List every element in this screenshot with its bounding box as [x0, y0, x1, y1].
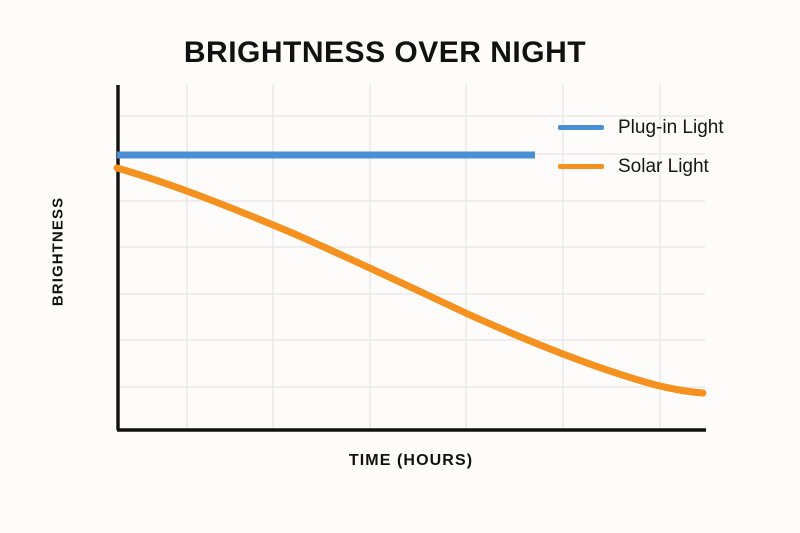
y-axis-label: BRIGHTNESS — [50, 172, 67, 332]
chart-legend: Plug-in Light Solar Light — [558, 113, 724, 191]
series-line-solar-light — [117, 168, 703, 393]
legend-label-solar-light: Solar Light — [618, 156, 709, 178]
legend-swatch-plug-in-light — [558, 125, 604, 130]
legend-item-plug-in-light: Plug-in Light — [558, 113, 724, 142]
legend-swatch-solar-light — [558, 164, 604, 169]
legend-item-solar-light: Solar Light — [558, 152, 724, 181]
x-axis-label: TIME (HOURS) — [117, 452, 705, 470]
legend-label-plug-in-light: Plug-in Light — [618, 117, 724, 139]
chart-figure: BRIGHTNESS OVER NIGHT BRIGHTNESS TIME (H… — [0, 0, 800, 533]
